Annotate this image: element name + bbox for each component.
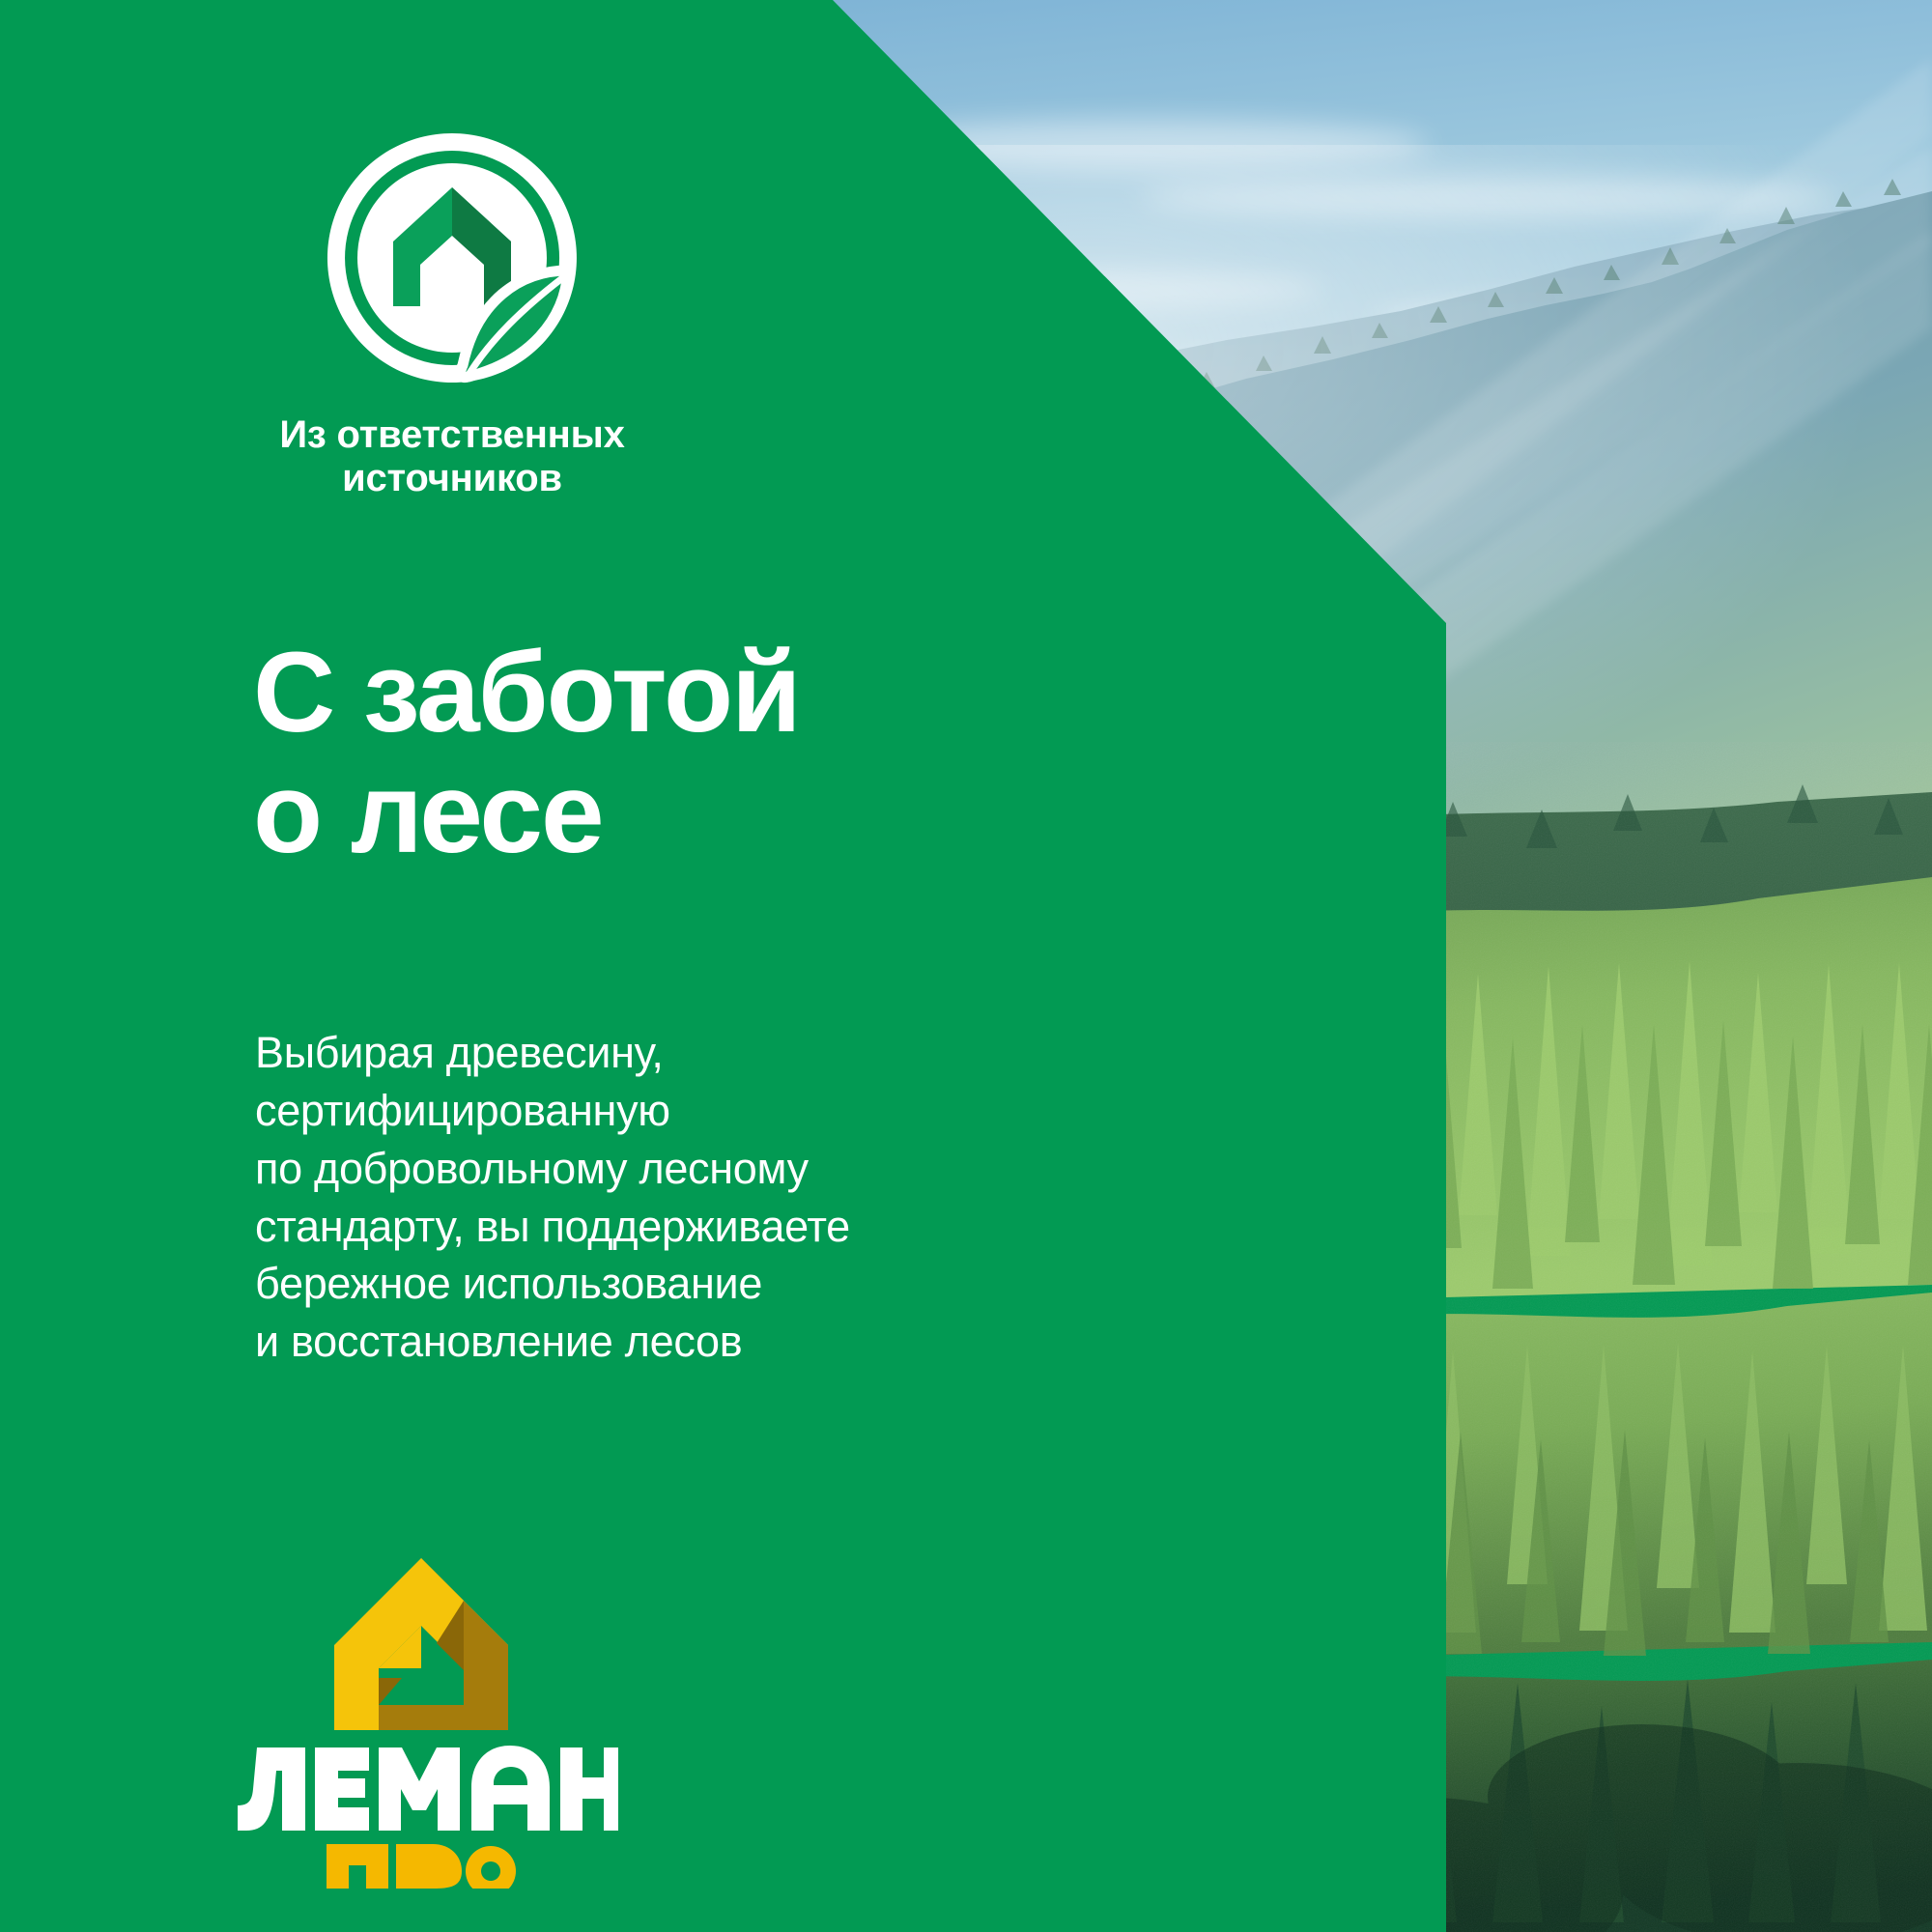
body-copy: Выбирая древесину, сертифицированную по … xyxy=(255,1024,850,1371)
page-title: С заботой о лесе xyxy=(253,633,800,874)
poster-root: Из ответственных источников С заботой о … xyxy=(0,0,1932,1932)
poster-content: Из ответственных источников С заботой о … xyxy=(0,0,1446,1932)
eco-certification-badge: Из ответственных источников xyxy=(249,128,655,500)
eco-badge-caption: Из ответственных источников xyxy=(249,413,655,500)
eco-house-leaf-circle-icon xyxy=(322,128,582,388)
brand-logo-final xyxy=(232,1541,618,1889)
